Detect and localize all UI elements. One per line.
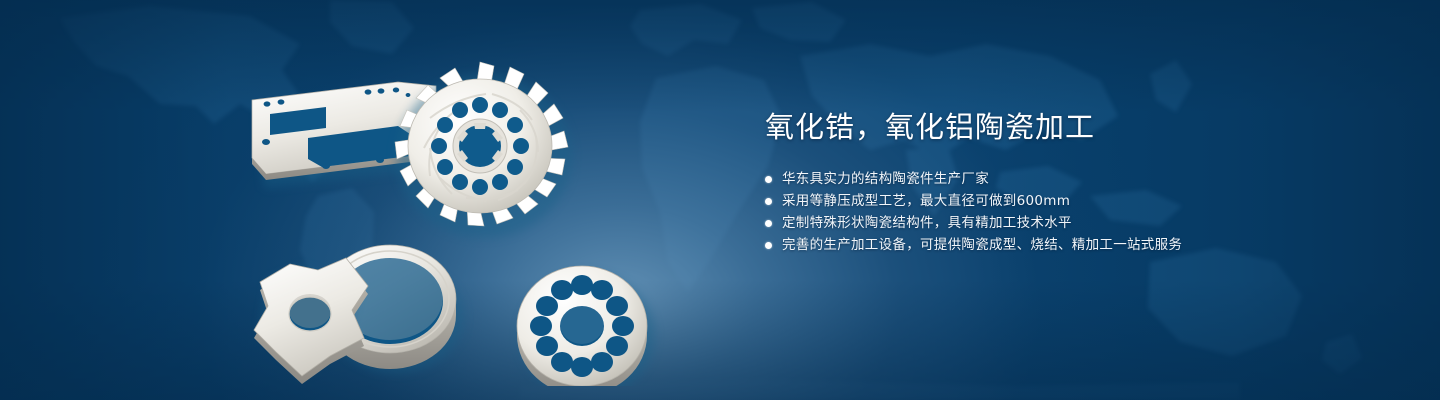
feature-text: 华东具实力的结构陶瓷件生产厂家 bbox=[782, 168, 989, 190]
bullet-dot-icon bbox=[765, 176, 772, 183]
feature-text: 采用等静压成型工艺，最大直径可做到600mm bbox=[782, 190, 1070, 212]
bullet-dot-icon bbox=[765, 220, 772, 227]
promo-banner: 氧化锆，氧化铝陶瓷加工 华东具实力的结构陶瓷件生产厂家 采用等静压成型工艺，最大… bbox=[0, 0, 1440, 400]
ceramic-perforated-disc-part bbox=[517, 266, 655, 386]
banner-headline: 氧化锆，氧化铝陶瓷加工 bbox=[765, 108, 1385, 146]
feature-text: 定制特殊形状陶瓷结构件，具有精加工技术水平 bbox=[782, 212, 1072, 234]
feature-item: 华东具实力的结构陶瓷件生产厂家 bbox=[765, 168, 1385, 190]
feature-item: 定制特殊形状陶瓷结构件，具有精加工技术水平 bbox=[765, 212, 1385, 234]
feature-text: 完善的生产加工设备，可提供陶瓷成型、烧结、精加工一站式服务 bbox=[782, 234, 1182, 256]
bullet-dot-icon bbox=[765, 198, 772, 205]
ceramic-cross-part bbox=[254, 258, 368, 384]
banner-copy: 氧化锆，氧化铝陶瓷加工 华东具实力的结构陶瓷件生产厂家 采用等静压成型工艺，最大… bbox=[765, 108, 1385, 256]
bullet-dot-icon bbox=[765, 242, 772, 249]
feature-item: 完善的生产加工设备，可提供陶瓷成型、烧结、精加工一站式服务 bbox=[765, 234, 1385, 256]
feature-item: 采用等静压成型工艺，最大直径可做到600mm bbox=[765, 190, 1385, 212]
banner-feature-list: 华东具实力的结构陶瓷件生产厂家 采用等静压成型工艺，最大直径可做到600mm 定… bbox=[765, 168, 1385, 256]
ceramic-products-photo bbox=[230, 38, 700, 386]
